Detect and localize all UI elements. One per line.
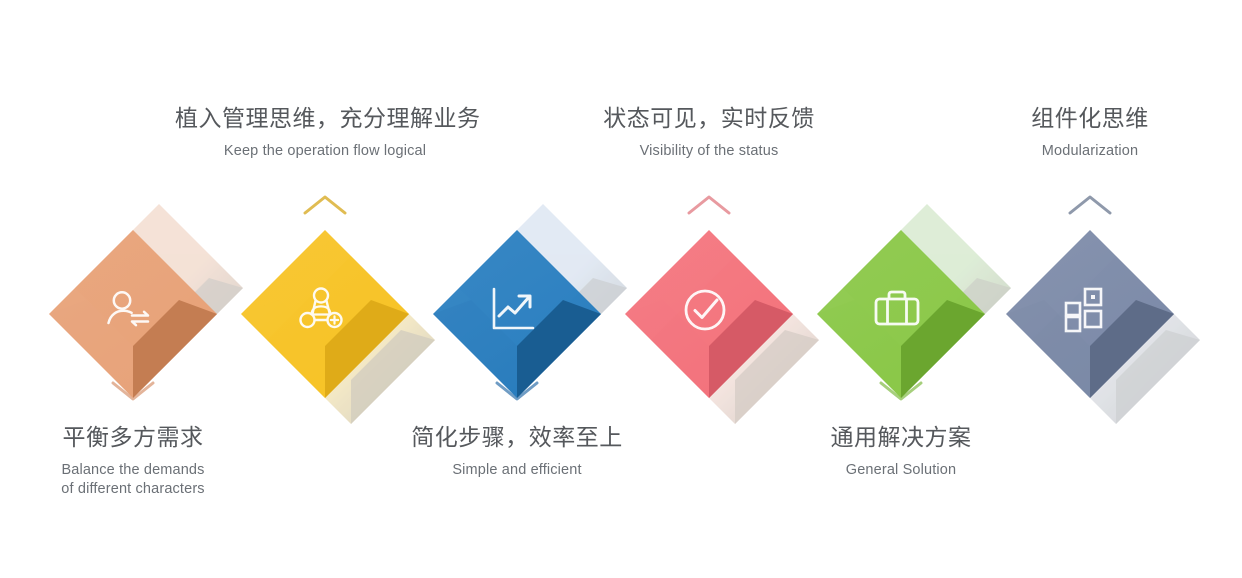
infographic-canvas: 平衡多方需求 Balance the demands of different …: [0, 0, 1242, 578]
caption-title-en-line1: Balance the demands: [61, 462, 204, 478]
chevron-up-icon: [302, 192, 348, 218]
diamond-balance-demands[interactable]: [43, 224, 223, 404]
caption-title-en-line1: General Solution: [846, 462, 956, 478]
chevron-up-icon: [1067, 192, 1113, 218]
diamond-visibility-of-status[interactable]: [619, 224, 799, 404]
check-circle-icon: [678, 283, 732, 337]
caption-modularization: 组件化思维 Modularization: [940, 104, 1240, 161]
infographic-item-modularization[interactable]: 组件化思维 Modularization: [975, 0, 1205, 578]
modular-blocks-icon: [1059, 283, 1113, 337]
caption-title-en-line1: Visibility of the status: [640, 143, 779, 159]
caption-title-en: Modularization: [940, 142, 1240, 161]
caption-title-en-line1: Keep the operation flow logical: [224, 143, 426, 159]
diamond-general-solution[interactable]: [811, 224, 991, 404]
caption-title-en-line1: Simple and efficient: [452, 462, 581, 478]
caption-title-en-line1: Modularization: [1042, 143, 1138, 159]
diamond-simple-efficient[interactable]: [427, 224, 607, 404]
chevron-up-icon: [686, 192, 732, 218]
network-nodes-add-icon: [294, 283, 348, 337]
diamond-operation-flow-logical[interactable]: [235, 224, 415, 404]
diamond-modularization[interactable]: [1000, 224, 1180, 404]
growth-chart-icon: [486, 283, 540, 337]
user-exchange-icon: [102, 283, 156, 337]
caption-title-cn: 组件化思维: [940, 104, 1240, 133]
briefcase-icon: [870, 283, 924, 337]
